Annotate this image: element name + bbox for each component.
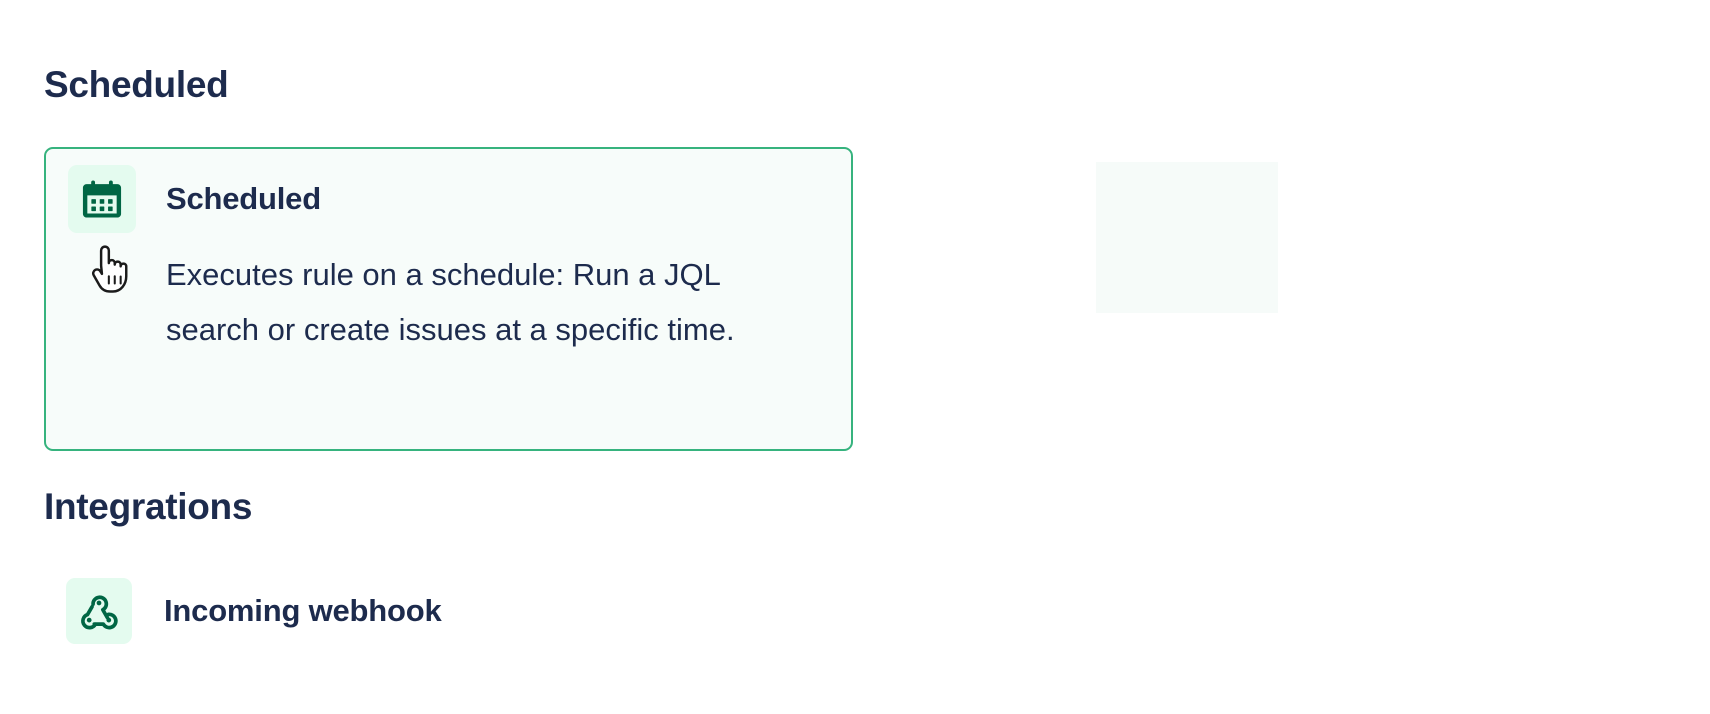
trigger-card-header: Scheduled [68,165,321,233]
trigger-card-title: Scheduled [166,181,321,217]
trigger-item-label: Incoming webhook [164,593,442,629]
placeholder-panel [1096,162,1278,313]
trigger-card-description: Executes rule on a schedule: Run a JQL s… [166,247,766,357]
calendar-icon [68,165,136,233]
section-heading-scheduled: Scheduled [44,66,228,103]
trigger-card-scheduled[interactable]: Scheduled Executes rule on a schedule: R… [44,147,853,451]
section-heading-integrations: Integrations [44,488,252,525]
trigger-picker-panel: Scheduled Sch [0,0,1710,714]
trigger-item-incoming-webhook[interactable]: Incoming webhook [66,578,442,644]
webhook-icon [66,578,132,644]
